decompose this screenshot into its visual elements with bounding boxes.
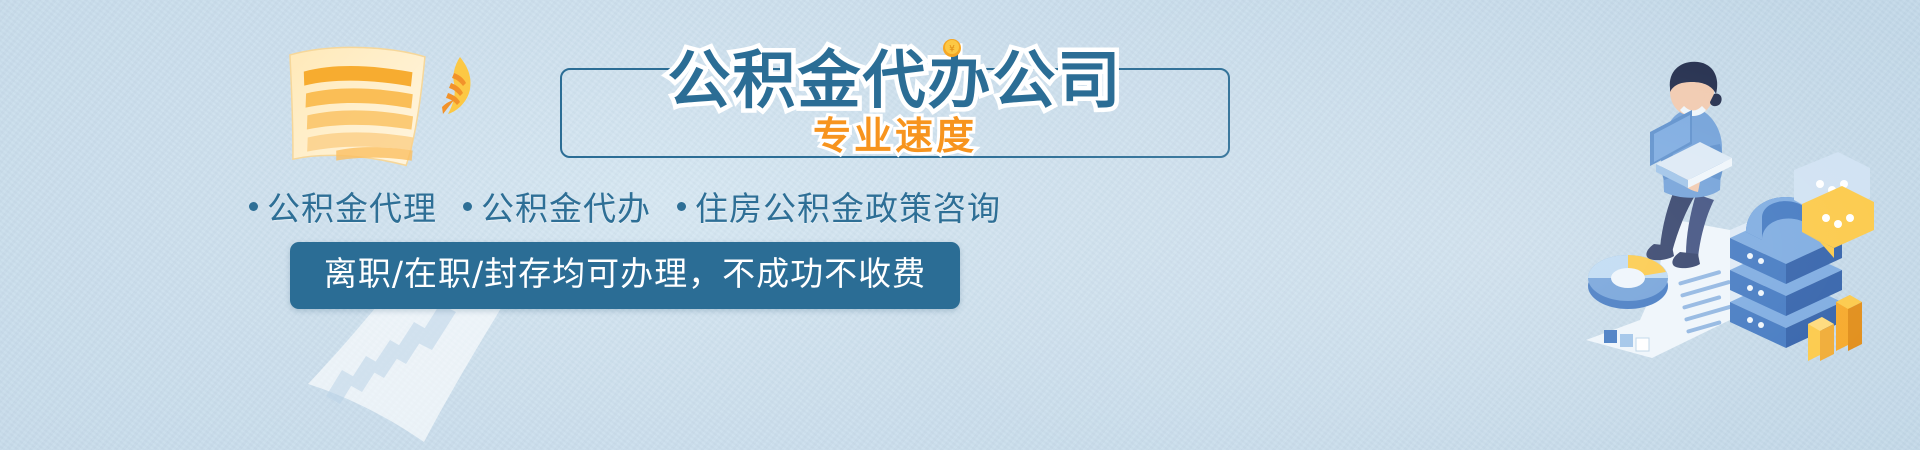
cta-button[interactable]: 离职/在职/封存均可办理，不成功不收费 — [290, 242, 960, 309]
person-on-server-illustration — [1580, 52, 1880, 362]
feature-item-3: 住房公积金政策咨询 — [677, 182, 1001, 230]
feature-item-1: 公积金代理 — [249, 182, 437, 230]
feature-list: 公积金代理 公积金代办 住房公积金政策咨询 — [0, 182, 1250, 230]
subtitle-block: 专业速度 — [560, 108, 1230, 156]
feature-label: 公积金代理 — [267, 182, 437, 230]
feature-item-2: 公积金代办 — [463, 182, 651, 230]
bullet-dot-icon — [677, 202, 686, 211]
feature-label: 公积金代办 — [481, 182, 651, 230]
banner-content: 公积金代办公司 ¥ 专业速度 公积金代理 公积金代办 — [0, 0, 1250, 450]
page-title: 公积金代办公司 — [668, 49, 1123, 112]
bullet-dot-icon — [463, 202, 472, 211]
promo-banner: 公积金代办公司 ¥ 专业速度 公积金代理 公积金代办 — [0, 0, 1920, 450]
cta-area: 离职/在职/封存均可办理，不成功不收费 — [0, 242, 1250, 309]
bullet-dot-icon — [249, 202, 258, 211]
coin-icon: ¥ — [942, 38, 962, 58]
feature-label: 住房公积金政策咨询 — [695, 182, 1001, 230]
svg-text:¥: ¥ — [949, 45, 955, 55]
page-subtitle: 专业速度 — [813, 105, 977, 160]
